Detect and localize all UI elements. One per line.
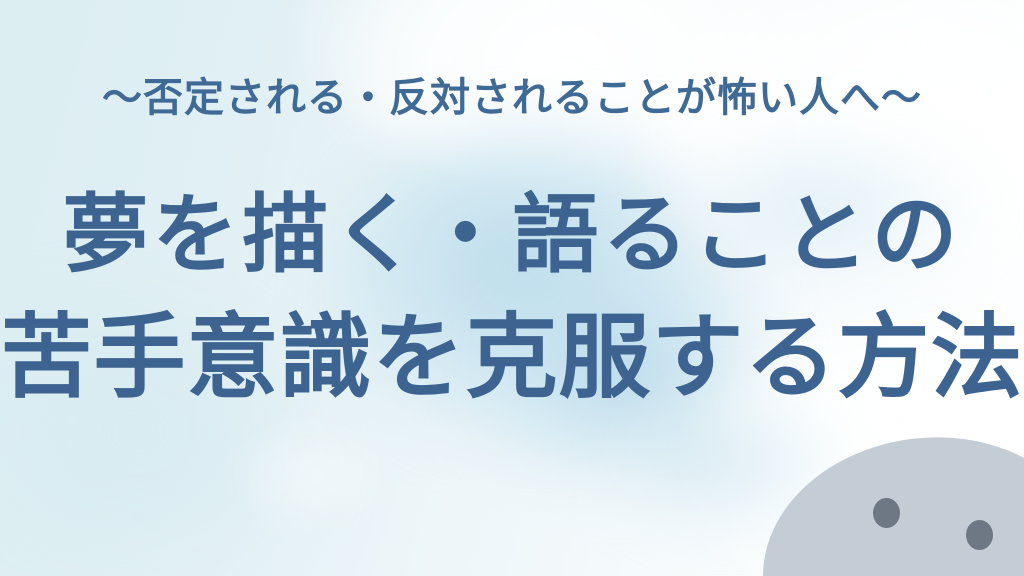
subtitle: 〜否定される・反対されることが怖い人へ〜 — [0, 78, 1024, 118]
title-line-2: 苦手意識を克服する方法 — [0, 312, 1024, 404]
text-layer: 〜否定される・反対されることが怖い人へ〜 夢を描く・語ることの 苦手意識を克服す… — [0, 0, 1024, 576]
title-line-1: 夢を描く・語ることの — [0, 192, 1024, 278]
thumbnail-canvas: 〜否定される・反対されることが怖い人へ〜 夢を描く・語ることの 苦手意識を克服す… — [0, 0, 1024, 576]
